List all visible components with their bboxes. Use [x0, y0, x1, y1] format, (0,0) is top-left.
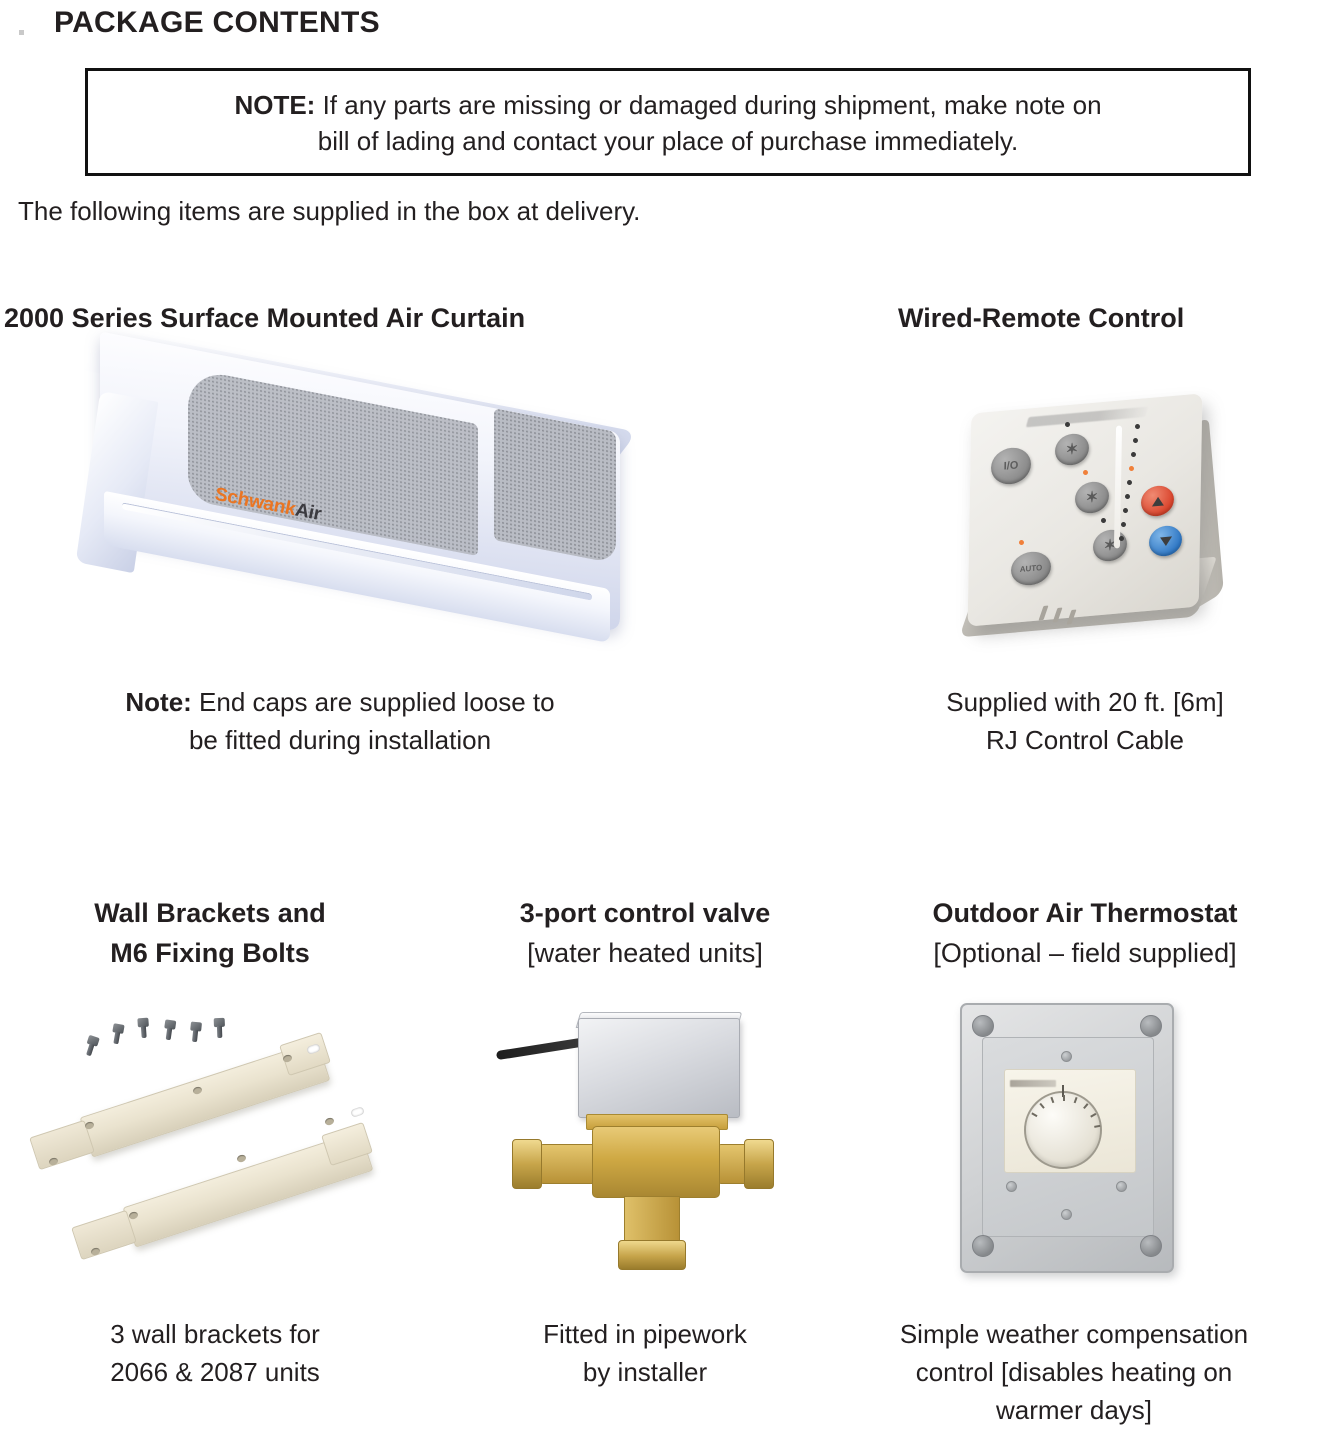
enclosure-corner-screw-bottom-left: [972, 1235, 994, 1257]
thermostat-brand-mark: [1010, 1080, 1056, 1087]
heading-wall-brackets: Wall Brackets and M6 Fixing Bolts: [10, 893, 410, 973]
three-port-valve-image: [490, 1000, 790, 1295]
wall-brackets-image: [25, 1000, 425, 1295]
enclosure-corner-screw-top-left: [972, 1015, 994, 1037]
page-margin-mark: [19, 30, 24, 35]
backplate-screw-lower-right: [1116, 1181, 1127, 1192]
note-callout-text: NOTE: If any parts are missing or damage…: [88, 87, 1248, 159]
heading-wall-brackets-line-2: M6 Fixing Bolts: [110, 938, 310, 968]
dial-tick: [1074, 1097, 1077, 1103]
outdoor-thermostat-image: [948, 995, 1248, 1285]
valve-compression-nut-left: [512, 1139, 542, 1189]
fan-icon: ✶: [1066, 441, 1079, 457]
page-title: PACKAGE CONTENTS: [54, 6, 380, 40]
heading-wired-remote: Wired-Remote Control: [898, 303, 1184, 334]
caption-air-curtain-line-2: be fitted during installation: [189, 725, 491, 755]
backplate-screw-bottom: [1061, 1209, 1072, 1220]
valve-port-bottom: [624, 1196, 680, 1244]
dial-tick: [1031, 1113, 1037, 1117]
air-curtain-intake-grille-right: [494, 408, 616, 564]
wall-bracket-2-slot: [350, 1106, 365, 1118]
heading-outdoor-thermostat-line-2: [Optional – field supplied]: [933, 938, 1236, 968]
fixing-bolt-3: [136, 1018, 150, 1039]
bolt-shaft-icon: [192, 1030, 198, 1042]
logo-air-text: Air: [295, 499, 321, 525]
valve-actuator-housing: [578, 1018, 740, 1118]
dial-tick: [1094, 1125, 1100, 1128]
caption-control-valve-line-1: Fitted in pipework: [543, 1319, 747, 1349]
bolt-shaft-icon: [141, 1026, 147, 1038]
fixing-bolt-2: [109, 1023, 125, 1045]
bolt-shaft-icon: [86, 1043, 94, 1056]
caption-note-label: Note:: [125, 687, 191, 717]
fixing-bolt-1: [82, 1034, 101, 1057]
caption-air-curtain: Note: End caps are supplied loose to be …: [20, 683, 660, 759]
note-line-1: If any parts are missing or damaged duri…: [315, 90, 1101, 120]
triangle-down-icon: [1159, 536, 1171, 546]
dial-tick: [1090, 1113, 1096, 1117]
intro-paragraph: The following items are supplied in the …: [18, 196, 640, 227]
triangle-up-icon: [1151, 496, 1163, 506]
fixing-bolt-5: [188, 1021, 203, 1042]
caption-remote-line-2: RJ Control Cable: [986, 725, 1184, 755]
wall-bracket-1-foot-hole: [48, 1157, 59, 1166]
dial-tick: [1039, 1103, 1044, 1109]
enclosure-corner-screw-bottom-right: [1140, 1235, 1162, 1257]
caption-thermostat-line-2: control [disables heating on: [916, 1357, 1233, 1387]
heading-control-valve-line-2: [water heated units]: [527, 938, 763, 968]
caption-wall-brackets-line-2: 2066 & 2087 units: [110, 1357, 320, 1387]
bolt-shaft-icon: [217, 1026, 222, 1038]
wired-remote-image: I/O ✶ ✶ ✶ AUTO: [955, 390, 1255, 670]
caption-air-curtain-line-1-clipped: Note: End caps are supplied loose to: [20, 683, 660, 721]
dial-tick: [1083, 1103, 1088, 1109]
valve-electrical-cable: [496, 1037, 588, 1060]
heading-outdoor-thermostat-line-1: Outdoor Air Thermostat: [932, 898, 1237, 928]
thermostat-temperature-dial[interactable]: [1024, 1091, 1102, 1169]
fixing-bolt-6: [213, 1018, 227, 1038]
backplate-screw-lower-left: [1006, 1181, 1017, 1192]
note-label: NOTE:: [234, 90, 315, 120]
heading-wall-brackets-line-1: Wall Brackets and: [94, 898, 326, 928]
caption-wired-remote: Supplied with 20 ft. [6m] RJ Control Cab…: [880, 683, 1290, 759]
caption-air-curtain-line-1-inner: Note: End caps are supplied loose to: [32, 683, 649, 721]
valve-compression-nut-bottom: [618, 1240, 686, 1270]
bolt-shaft-icon: [166, 1028, 173, 1041]
caption-thermostat-line-1: Simple weather compensation: [900, 1319, 1248, 1349]
wall-bracket-2-hole-right: [324, 1117, 335, 1126]
dial-tick: [1050, 1097, 1053, 1103]
wall-bracket-2-foot: [71, 1210, 137, 1260]
caption-thermostat-line-3: warmer days]: [996, 1395, 1152, 1425]
heading-outdoor-thermostat: Outdoor Air Thermostat [Optional – field…: [860, 893, 1310, 973]
caption-control-valve-line-2: by installer: [583, 1357, 707, 1387]
caption-wall-brackets: 3 wall brackets for 2066 & 2087 units: [20, 1315, 410, 1391]
valve-port-left: [540, 1144, 596, 1184]
wall-bracket-2-foot-hole: [90, 1247, 101, 1256]
wall-bracket-2-hole-center: [236, 1154, 247, 1163]
enclosure-corner-screw-top-right: [1140, 1015, 1162, 1037]
backplate-screw-top: [1061, 1051, 1072, 1062]
heading-control-valve: 3-port control valve [water heated units…: [450, 893, 840, 973]
valve-compression-nut-right: [744, 1139, 774, 1189]
caption-remote-line-1: Supplied with 20 ft. [6m]: [946, 687, 1223, 717]
note-callout-box: NOTE: If any parts are missing or damage…: [85, 68, 1251, 176]
caption-control-valve: Fitted in pipework by installer: [460, 1315, 830, 1391]
heading-control-valve-line-1: 3-port control valve: [520, 898, 771, 928]
caption-outdoor-thermostat: Simple weather compensation control [dis…: [830, 1315, 1318, 1429]
dial-tick: [1063, 1095, 1065, 1101]
air-curtain-image: SchwankAir: [70, 372, 670, 662]
heading-air-curtain: 2000 Series Surface Mounted Air Curtain: [4, 303, 525, 334]
bolt-shaft-icon: [113, 1032, 120, 1045]
note-line-2: bill of lading and contact your place of…: [106, 123, 1230, 159]
valve-brass-body: [592, 1126, 720, 1198]
caption-wall-brackets-line-1: 3 wall brackets for: [110, 1319, 320, 1349]
fan-icon: ✶: [1086, 489, 1099, 505]
fixing-bolt-4: [162, 1019, 178, 1041]
caption-air-curtain-line-1-text: End caps are supplied loose to: [192, 687, 555, 717]
